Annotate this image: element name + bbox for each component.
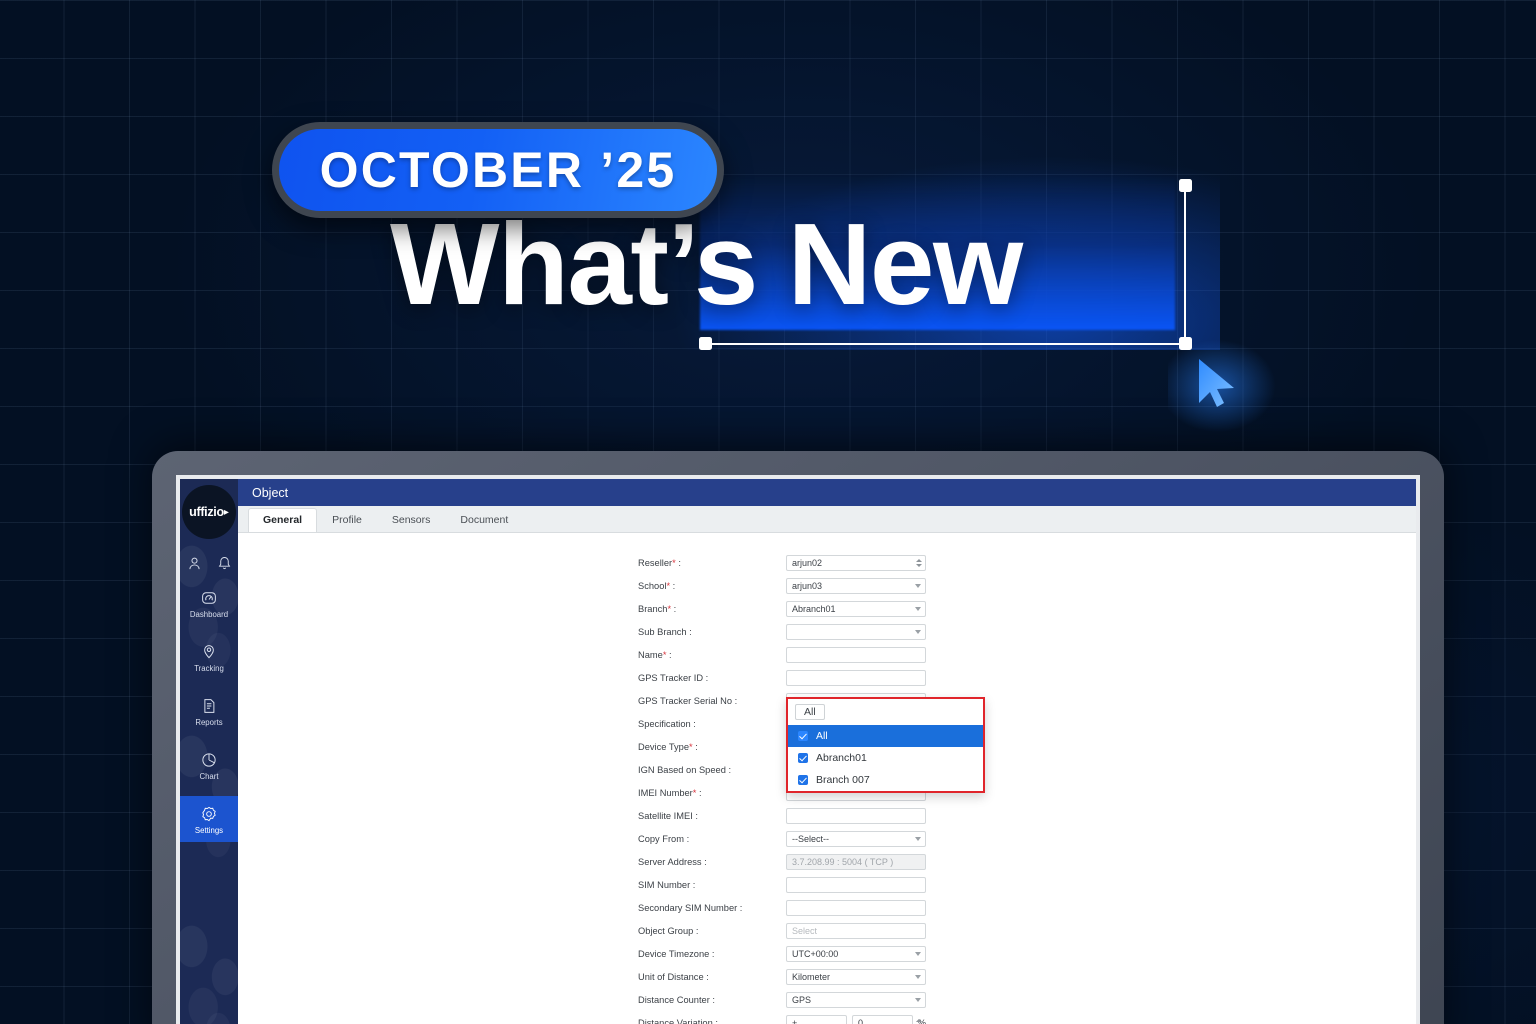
sub-branch-selected-chip: All [795, 704, 825, 720]
field-object-group[interactable]: Select [786, 923, 926, 939]
tab-profile-label: Profile [332, 514, 362, 526]
checkbox-checked-icon [798, 753, 808, 763]
field-sub-branch[interactable] [786, 624, 926, 640]
sidebar-item-dashboard[interactable]: Dashboard [180, 580, 238, 626]
field-sim-number[interactable] [786, 877, 926, 893]
field-secondary-sim-number[interactable] [786, 900, 926, 916]
form-label-sub-branch: Sub Branch : [638, 627, 786, 637]
month-badge: OCTOBER ’25 [272, 122, 724, 218]
form-control-device-timezone: UTC+00:00 [786, 946, 926, 962]
form-label-branch: Branch* : [638, 604, 786, 614]
reports-document-icon [200, 697, 218, 715]
form-label-device-timezone: Device Timezone : [638, 949, 786, 959]
form-row-object-group: Object Group :Select [638, 919, 938, 942]
form-control-branch: Abranch01 [786, 601, 926, 617]
selection-handle-top-right[interactable] [1179, 179, 1192, 192]
hero-section: OCTOBER ’25 What’s New [0, 0, 1536, 450]
spinner-distance-variation-1[interactable]: + [786, 1015, 847, 1024]
form-row-school: School* :arjun03 [638, 574, 938, 597]
logo-arrow-icon: ▸ [224, 507, 229, 518]
dropdown-option-abranch01[interactable]: Abranch01 [788, 747, 983, 769]
form-label-distance-variation: Distance Variation : [638, 1018, 786, 1024]
form-label-reseller: Reseller* : [638, 558, 786, 568]
form-row-name: Name* : [638, 643, 938, 666]
sidebar-label-settings: Settings [195, 826, 223, 835]
tab-sensors-label: Sensors [392, 514, 431, 526]
form-label-sim-number: SIM Number : [638, 880, 786, 890]
tab-profile[interactable]: Profile [317, 508, 377, 532]
form-label-secondary-sim-number: Secondary SIM Number : [638, 903, 786, 913]
required-asterisk: * [689, 742, 693, 752]
field-school[interactable]: arjun03 [786, 578, 926, 594]
selection-frame-right-edge [1184, 190, 1186, 342]
sub-branch-dropdown: All All Abranch01 Branch 007 [786, 697, 985, 793]
form-row-copy-from: Copy From :--Select-- [638, 827, 938, 850]
form-label-satellite-imei: Satellite IMEI : [638, 811, 786, 821]
field-distance-counter[interactable]: GPS [786, 992, 926, 1008]
laptop-screen: uffizio▸ Dashboard [176, 475, 1420, 1024]
pie-chart-icon [200, 751, 218, 769]
tab-bar: General Profile Sensors Document [238, 506, 1416, 533]
bell-icon[interactable] [216, 555, 233, 572]
sidebar-label-dashboard: Dashboard [190, 610, 228, 619]
spinner-distance-variation-2[interactable]: 0 [852, 1015, 913, 1024]
required-asterisk: * [693, 788, 697, 798]
field-gps-tracker-id[interactable] [786, 670, 926, 686]
form-control-distance-variation: +0% [786, 1015, 926, 1024]
form-label-school: School* : [638, 581, 786, 591]
sidebar-item-settings[interactable]: Settings [180, 796, 238, 842]
page-title-bar: Object [238, 479, 1416, 506]
field-unit-of-distance[interactable]: Kilometer [786, 969, 926, 985]
sidebar: uffizio▸ Dashboard [180, 479, 238, 1024]
field-name[interactable] [786, 647, 926, 663]
chevron-down-icon [915, 607, 921, 611]
form-row-sub-branch: Sub Branch : [638, 620, 938, 643]
tab-general-label: General [263, 514, 302, 526]
field-copy-from[interactable]: --Select-- [786, 831, 926, 847]
form-row-unit-of-distance: Unit of Distance :Kilometer [638, 965, 938, 988]
page-title: Object [252, 486, 288, 500]
sidebar-item-chart[interactable]: Chart [180, 742, 238, 788]
form-row-distance-counter: Distance Counter :GPS [638, 988, 938, 1011]
dropdown-option-all[interactable]: All [788, 725, 983, 747]
tracking-pin-icon [200, 643, 218, 661]
form-row-distance-variation: Distance Variation :+0% [638, 1011, 938, 1024]
form-row-branch: Branch* :Abranch01 [638, 597, 938, 620]
user-icon[interactable] [186, 555, 203, 572]
form-control-distance-counter: GPS [786, 992, 926, 1008]
form-control-unit-of-distance: Kilometer [786, 969, 926, 985]
form-row-reseller: Reseller* :arjun02 [638, 551, 938, 574]
form-row-server-address: Server Address :3.7.208.99 : 5004 ( TCP … [638, 850, 938, 873]
required-asterisk: * [672, 558, 676, 568]
form-row-satellite-imei: Satellite IMEI : [638, 804, 938, 827]
tab-sensors[interactable]: Sensors [377, 508, 446, 532]
dropdown-option-branch007[interactable]: Branch 007 [788, 769, 983, 791]
form-label-device-type: Device Type* : [638, 742, 786, 752]
form-control-object-group: Select [786, 923, 926, 939]
required-asterisk: * [666, 581, 670, 591]
dashboard-icon [200, 589, 218, 607]
form-control-satellite-imei [786, 808, 926, 824]
checkbox-checked-icon [798, 775, 808, 785]
chevron-down-icon [915, 975, 921, 979]
uffizio-logo: uffizio▸ [182, 485, 236, 539]
form-row-secondary-sim-number: Secondary SIM Number : [638, 896, 938, 919]
form-control-gps-tracker-id [786, 670, 926, 686]
tab-document[interactable]: Document [445, 508, 523, 532]
form-label-specification: Specification : [638, 719, 786, 729]
form-control-sub-branch [786, 624, 926, 640]
chevron-down-icon [915, 952, 921, 956]
form-control-secondary-sim-number [786, 900, 926, 916]
form-label-gps-tracker-serial-no: GPS Tracker Serial No : [638, 696, 786, 706]
form-control-school: arjun03 [786, 578, 926, 594]
gear-icon [200, 805, 218, 823]
tab-document-label: Document [460, 514, 508, 526]
sidebar-top-icons [186, 555, 233, 572]
sidebar-label-tracking: Tracking [194, 664, 224, 673]
form-label-object-group: Object Group : [638, 926, 786, 936]
required-asterisk: * [663, 650, 667, 660]
form-label-ign-based-on-speed: IGN Based on Speed : [638, 765, 786, 775]
sub-branch-dropdown-input[interactable]: All [788, 699, 983, 725]
pointer-cursor-icon [1196, 357, 1244, 409]
dropdown-option-all-label: All [816, 730, 828, 742]
field-reseller[interactable]: arjun02 [786, 555, 926, 571]
dropdown-option-abranch01-label: Abranch01 [816, 752, 867, 764]
chevron-down-icon [915, 998, 921, 1002]
form-row-sim-number: SIM Number : [638, 873, 938, 896]
tab-general[interactable]: General [248, 508, 317, 532]
sidebar-item-tracking[interactable]: Tracking [180, 634, 238, 680]
month-badge-label: OCTOBER ’25 [320, 141, 677, 199]
form-label-unit-of-distance: Unit of Distance : [638, 972, 786, 982]
form-control-reseller: arjun02 [786, 555, 926, 571]
sidebar-label-chart: Chart [199, 772, 218, 781]
form-label-copy-from: Copy From : [638, 834, 786, 844]
form-label-gps-tracker-id: GPS Tracker ID : [638, 673, 786, 683]
field-branch[interactable]: Abranch01 [786, 601, 926, 617]
form-row-device-timezone: Device Timezone :UTC+00:00 [638, 942, 938, 965]
selection-handle-bottom-left[interactable] [699, 337, 712, 350]
form-area: Reseller* :arjun02School* :arjun03Branch… [238, 533, 1416, 1024]
required-asterisk: * [667, 604, 671, 614]
main-content: Object General Profile Sensors Document … [238, 479, 1416, 1024]
form-label-imei-number: IMEI Number* : [638, 788, 786, 798]
sidebar-item-reports[interactable]: Reports [180, 688, 238, 734]
form-control-name [786, 647, 926, 663]
form-control-sim-number [786, 877, 926, 893]
form-row-gps-tracker-id: GPS Tracker ID : [638, 666, 938, 689]
sidebar-label-reports: Reports [195, 718, 222, 727]
form-label-server-address: Server Address : [638, 857, 786, 867]
dropdown-option-branch007-label: Branch 007 [816, 774, 870, 786]
field-server-address: 3.7.208.99 : 5004 ( TCP ) [786, 854, 926, 870]
selection-handle-bottom-right[interactable] [1179, 337, 1192, 350]
laptop-frame: uffizio▸ Dashboard [152, 451, 1444, 1024]
form-control-copy-from: --Select-- [786, 831, 926, 847]
chevron-down-icon [915, 584, 921, 588]
headline-label: What’s New [390, 206, 1022, 322]
spinner-arrows-icon [916, 559, 922, 567]
selection-frame-bottom-edge [706, 343, 1186, 345]
field-device-timezone[interactable]: UTC+00:00 [786, 946, 926, 962]
form-label-name: Name* : [638, 650, 786, 660]
field-satellite-imei[interactable] [786, 808, 926, 824]
chevron-down-icon [915, 837, 921, 841]
checkbox-checked-icon [798, 731, 808, 741]
form-control-server-address: 3.7.208.99 : 5004 ( TCP ) [786, 854, 926, 870]
form-label-distance-counter: Distance Counter : [638, 995, 786, 1005]
chevron-down-icon [915, 630, 921, 634]
logo-label: uffizio [189, 505, 224, 519]
dual-control: +0% [786, 1015, 926, 1024]
